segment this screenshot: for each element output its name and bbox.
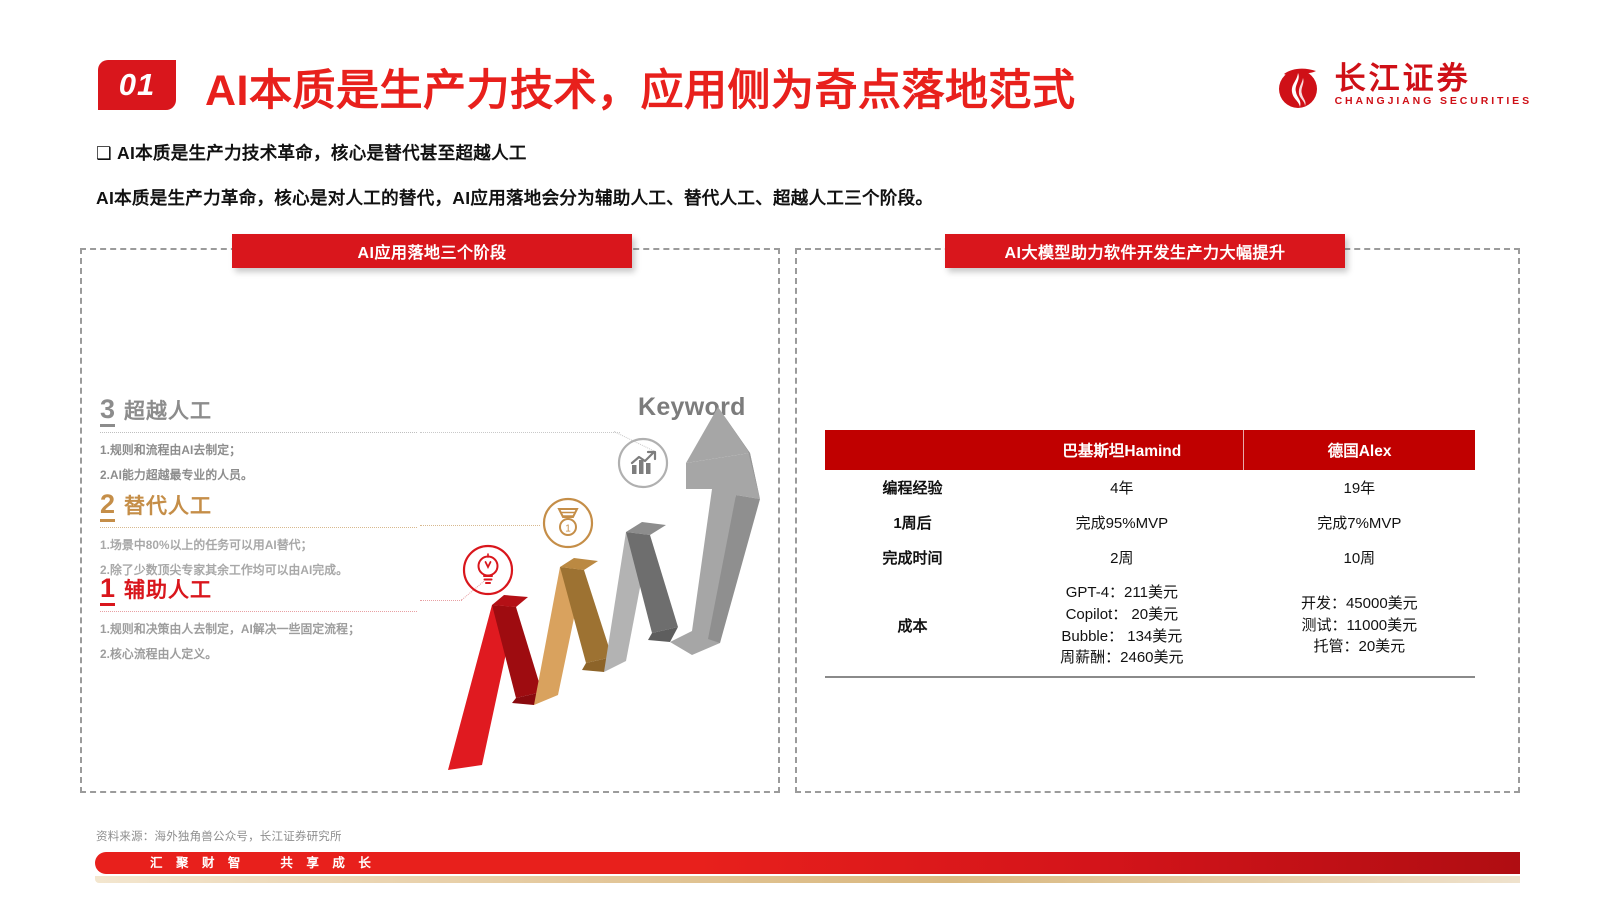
table-row: 1周后 完成95%MVP 完成7%MVP	[825, 505, 1475, 540]
source-note: 资料来源：海外独角兽公众号，长江证券研究所	[96, 828, 342, 844]
table-header-row: 巴基斯坦Hamind 德国Alex	[825, 430, 1475, 470]
stage-2-line-1: 1.场景中80%以上的任务可以用AI替代；	[100, 536, 430, 553]
stage-2-name: 替代人工	[124, 496, 212, 517]
comparison-table: 巴基斯坦Hamind 德国Alex 编程经验 4年 19年 1周后 完成95%M…	[825, 430, 1475, 678]
right-panel-banner: AI大模型助力软件开发生产力大幅提升	[945, 234, 1345, 268]
slide-root: 01 AI本质是生产力技术，应用侧为奇点落地范式 长江证券 CHANGJIANG…	[0, 0, 1600, 900]
section-number-badge: 01	[98, 60, 176, 110]
stage-1-divider	[100, 611, 417, 612]
stage-3-line-1: 1.规则和流程由AI去制定；	[100, 441, 430, 458]
cell-week-hamind: 完成95%MVP	[1000, 505, 1244, 540]
stage-2-heading: 2 替代人工	[100, 491, 430, 522]
chart-up-icon	[615, 435, 671, 491]
left-panel-banner: AI应用落地三个阶段	[232, 234, 632, 268]
row-label-after-one-week: 1周后	[825, 505, 1000, 540]
bullet-marker-icon: ❑	[96, 143, 112, 164]
logo-english-name: CHANGJIANG SECURITIES	[1335, 95, 1532, 109]
stage-1-line-1: 1.规则和决策由人去制定，AI解决一些固定流程；	[100, 620, 430, 637]
table-header-hamind: 巴基斯坦Hamind	[1000, 430, 1244, 470]
changjiang-emblem-icon	[1274, 60, 1326, 112]
svg-text:1: 1	[565, 524, 571, 535]
stage-1-辅助人工: 1 辅助人工 1.规则和决策由人去制定，AI解决一些固定流程； 2.核心流程由人…	[100, 575, 430, 662]
medal-icon: 1	[540, 495, 596, 551]
row-label-experience: 编程经验	[825, 470, 1000, 505]
stage-3-超越人工: 3 超越人工 1.规则和流程由AI去制定； 2.AI能力超越最专业的人员。	[100, 396, 430, 483]
stage-2-divider	[100, 527, 417, 528]
stage-3-heading: 3 超越人工	[100, 396, 430, 427]
page-title: AI本质是生产力技术，应用侧为奇点落地范式	[205, 56, 1076, 118]
stage-1-name: 辅助人工	[124, 580, 212, 601]
cell-week-alex: 完成7%MVP	[1244, 505, 1475, 540]
stage-3-number: 3	[100, 396, 115, 427]
footer-bar: 汇 聚 财 智 共 享 成 长	[95, 852, 1520, 874]
stage-3-line-2: 2.AI能力超越最专业的人员。	[100, 466, 430, 483]
row-label-cost: 成本	[825, 575, 1000, 677]
table-header-alex: 德国Alex	[1244, 430, 1475, 470]
footer-slogan: 汇 聚 财 智 共 享 成 长	[150, 852, 376, 874]
cell-experience-hamind: 4年	[1000, 470, 1244, 505]
table-row: 成本 GPT-4：211美元 Copilot： 20美元 Bubble： 134…	[825, 575, 1475, 677]
cell-time-hamind: 2周	[1000, 540, 1244, 575]
cell-cost-hamind: GPT-4：211美元 Copilot： 20美元 Bubble： 134美元 …	[1000, 575, 1244, 677]
footer-accent-strip	[95, 876, 1520, 883]
stage-3-divider	[100, 432, 417, 433]
lightbulb-icon	[460, 542, 516, 598]
bullet-primary-text: AI本质是生产力技术革命，核心是替代甚至超越人工	[117, 143, 527, 163]
cell-cost-alex: 开发：45000美元 测试：11000美元 托管：20美元	[1244, 575, 1475, 677]
stage-2-number: 2	[100, 491, 115, 522]
stage-1-heading: 1 辅助人工	[100, 575, 430, 606]
stage-1-line-2: 2.核心流程由人定义。	[100, 645, 430, 662]
logo-chinese-name: 长江证券	[1335, 63, 1471, 96]
bullet-secondary: AI本质是生产力革命，核心是对人工的替代，AI应用落地会分为辅助人工、替代人工、…	[96, 185, 933, 210]
stage-1-number: 1	[100, 575, 115, 606]
row-label-completion-time: 完成时间	[825, 540, 1000, 575]
table-row: 完成时间 2周 10周	[825, 540, 1475, 575]
stage-2-替代人工: 2 替代人工 1.场景中80%以上的任务可以用AI替代； 2.除了少数顶尖专家其…	[100, 491, 430, 578]
table-row: 编程经验 4年 19年	[825, 470, 1475, 505]
cell-experience-alex: 19年	[1244, 470, 1475, 505]
table-header-blank	[825, 430, 1000, 470]
bullet-primary: ❑AI本质是生产力技术革命，核心是替代甚至超越人工	[96, 140, 527, 165]
cell-time-alex: 10周	[1244, 540, 1475, 575]
company-logo: 长江证券 CHANGJIANG SECURITIES	[1274, 58, 1532, 114]
stage-3-name: 超越人工	[124, 401, 212, 422]
